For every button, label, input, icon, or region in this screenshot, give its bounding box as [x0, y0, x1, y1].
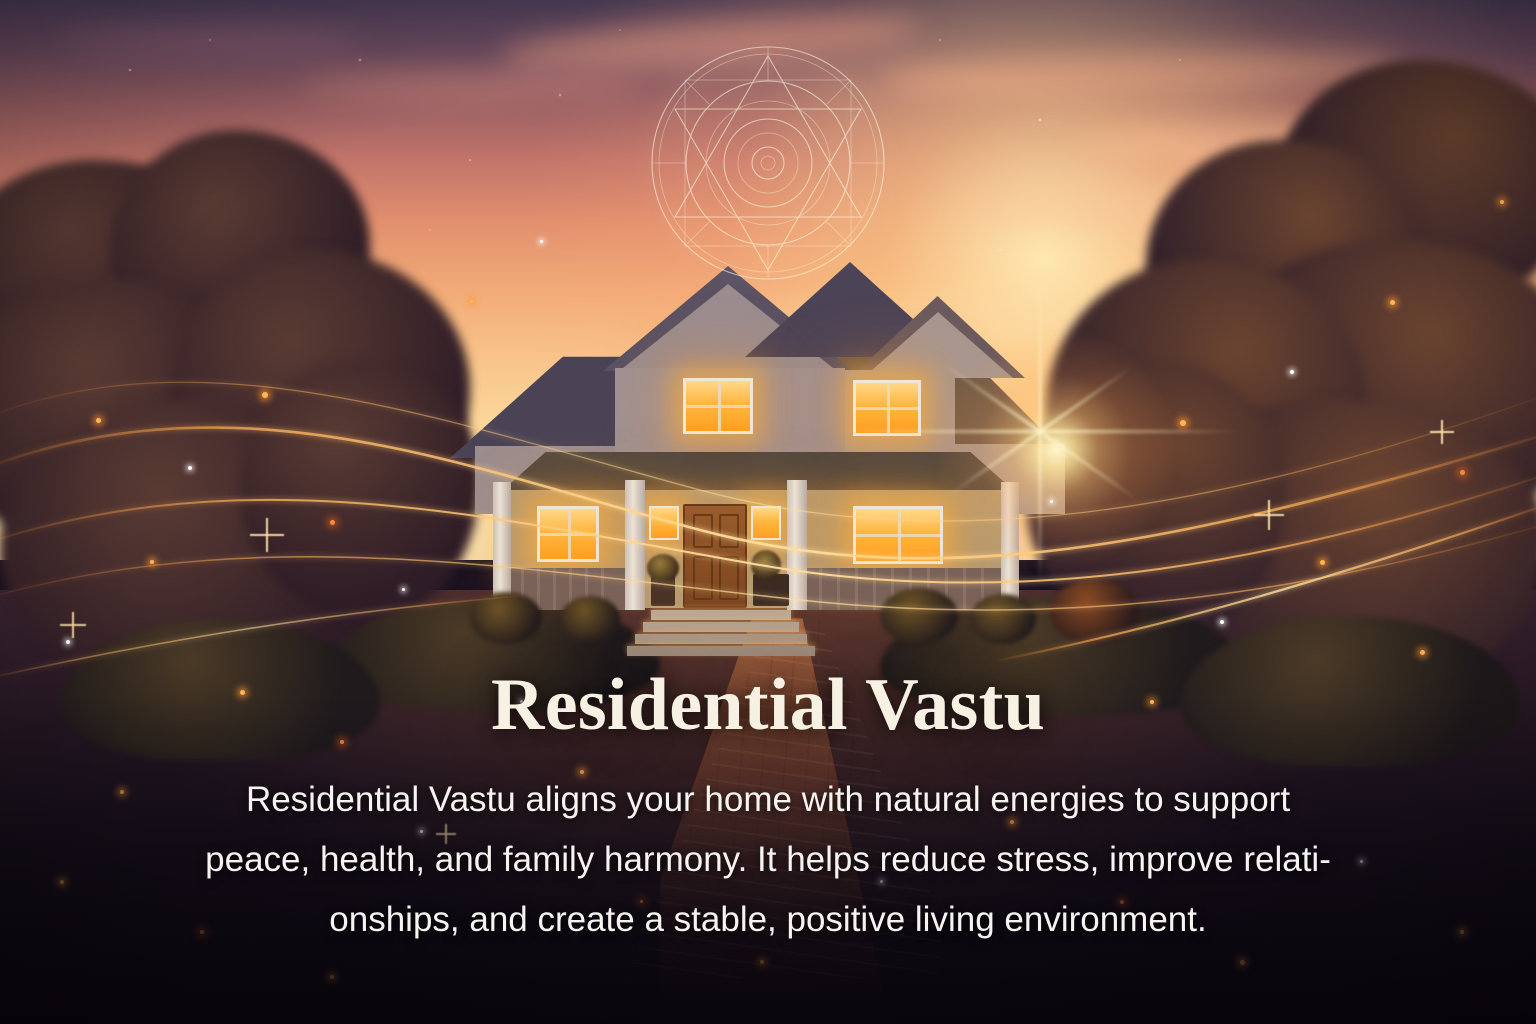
front-door[interactable] [683, 504, 747, 608]
description-line: peace, health, and family harmony. It he… [138, 830, 1398, 890]
tree-canopy-left [0, 100, 500, 660]
porch-column [1001, 482, 1019, 610]
description-line: Residential Vastu aligns your home with … [138, 770, 1398, 830]
window-porch-right [853, 506, 943, 564]
porch-column [787, 480, 807, 610]
porch-step [643, 622, 799, 632]
house [455, 258, 1055, 658]
shrub [880, 588, 958, 644]
porch-step [635, 634, 807, 644]
sidelight-left [649, 506, 679, 540]
hero-description: Residential Vastu aligns your home with … [138, 770, 1398, 951]
sidelight-right [751, 506, 781, 540]
shrub [970, 594, 1036, 644]
window-upper-center [683, 378, 753, 434]
page-title: Residential Vastu [0, 668, 1536, 742]
shrub [560, 596, 620, 642]
window-porch-left [537, 506, 599, 562]
vastu-hero-banner: Residential Vastu Residential Vastu alig… [0, 0, 1536, 1024]
porch-plant-left [647, 554, 679, 582]
porch-plant-right [751, 550, 781, 580]
window-upper-right [853, 380, 921, 436]
description-line: onships, and create a stable, positive l… [138, 890, 1398, 950]
shrub [1050, 580, 1140, 644]
shrub [470, 592, 542, 644]
porch-column [625, 480, 645, 610]
porch-step [627, 646, 815, 656]
porch-step [651, 610, 791, 620]
hero-text-block: Residential Vastu Residential Vastu alig… [0, 668, 1536, 951]
porch-column [493, 482, 511, 610]
